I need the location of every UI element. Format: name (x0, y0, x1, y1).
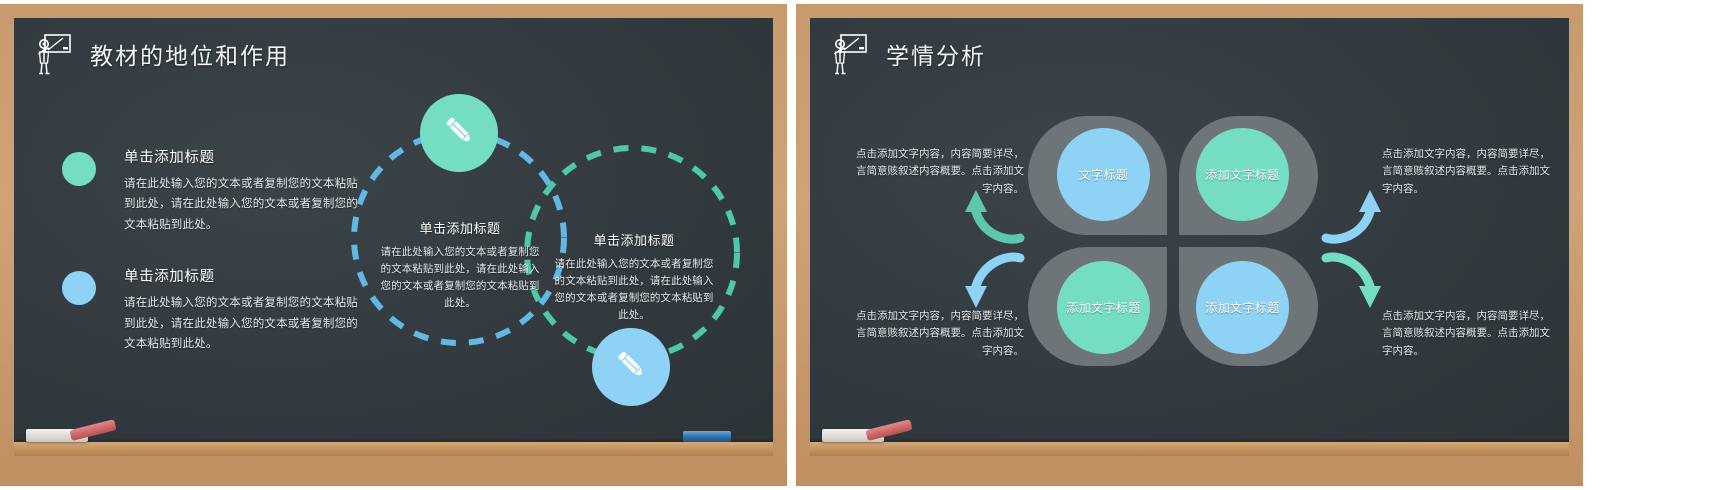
slide-left-title: 教材的地位和作用 (90, 37, 290, 71)
petal-top-right[interactable]: 添加文字标题 (1179, 116, 1318, 235)
bullet-title: 单击添加标题 (124, 265, 362, 286)
teacher-blackboard-icon (32, 32, 72, 76)
pencil-icon (439, 111, 479, 156)
slide-divider (787, 0, 796, 490)
bullet-text: 请在此处输入您的文本或者复制您的文本粘贴到此处，请在此处输入您的文本或者复制您的… (124, 293, 362, 354)
petal-label-top-left: 文字标题 (1057, 128, 1150, 221)
petal-label-bottom-right: 添加文字标题 (1196, 261, 1289, 354)
slide-right-header: 学情分析 (828, 32, 986, 76)
circle-title: 单击添加标题 (380, 218, 540, 237)
dashed-circle-group: 单击添加标题 请在此处输入您的文本或者复制您的文本粘贴到此处，请在此处输入您的文… (344, 78, 764, 418)
paragraph-top-right: 点击添加文字内容，内容简要详尽，言简意赅叙述内容概要。点击添加文字内容。 (1382, 146, 1554, 198)
chalk-ledge (810, 442, 1569, 456)
pencil-bubble-blue[interactable] (592, 328, 670, 406)
petal-bottom-left[interactable]: 添加文字标题 (1028, 247, 1167, 366)
arrow-top-right-icon (1318, 186, 1388, 246)
circle-text-right: 单击添加标题 请在此处输入您的文本或者复制您的文本粘贴到此处，请在此处输入您的文… (554, 230, 714, 324)
bullet-item[interactable]: 单击添加标题 请在此处输入您的文本或者复制您的文本粘贴到此处，请在此处输入您的文… (62, 146, 362, 235)
bullet-item[interactable]: 单击添加标题 请在此处输入您的文本或者复制您的文本粘贴到此处，请在此处输入您的文… (62, 265, 362, 354)
chalk-ledge (14, 442, 773, 456)
circle-title: 单击添加标题 (554, 230, 714, 249)
slide-pair-canvas: 教材的地位和作用 单击添加标题 请在此处输入您的文本或者复制您的文本粘贴到此处，… (0, 0, 1720, 490)
bullet-dot-green (62, 152, 96, 186)
circle-text-left: 单击添加标题 请在此处输入您的文本或者复制您的文本粘贴到此处，请在此处输入您的文… (380, 218, 540, 312)
paragraph-top-left: 点击添加文字内容，内容简要详尽，言简意赅叙述内容概要。点击添加文字内容。 (852, 146, 1024, 198)
petal-label-bottom-left: 添加文字标题 (1057, 261, 1150, 354)
pencil-bubble-green[interactable] (420, 94, 498, 172)
bullet-text: 请在此处输入您的文本或者复制您的文本粘贴到此处，请在此处输入您的文本或者复制您的… (124, 174, 362, 235)
arrow-bottom-right-icon (1318, 250, 1388, 312)
paragraph-bottom-right: 点击添加文字内容，内容简要详尽，言简意赅叙述内容概要。点击添加文字内容。 (1382, 308, 1554, 360)
petal-top-left[interactable]: 文字标题 (1028, 116, 1167, 235)
paragraph-bottom-left: 点击添加文字内容，内容简要详尽，言简意赅叙述内容概要。点击添加文字内容。 (852, 308, 1024, 360)
pencil-icon (611, 345, 651, 390)
slide-left: 教材的地位和作用 单击添加标题 请在此处输入您的文本或者复制您的文本粘贴到此处，… (0, 4, 787, 486)
chalk-blue[interactable] (683, 431, 731, 442)
quadrant-flower-diagram: 文字标题 添加文字标题 添加文字标题 添加文字标题 (1028, 116, 1318, 366)
slide-right-title: 学情分析 (886, 37, 986, 71)
slide-left-header: 教材的地位和作用 (32, 32, 290, 76)
slide-right: 学情分析 文字标题 添加文字标题 添加文字标题 添加文字标题 (796, 4, 1583, 486)
bullet-title: 单击添加标题 (124, 146, 362, 167)
chalkboard-right: 学情分析 文字标题 添加文字标题 添加文字标题 添加文字标题 (810, 18, 1569, 456)
arrow-bottom-left-icon (958, 250, 1028, 312)
petal-bottom-right[interactable]: 添加文字标题 (1179, 247, 1318, 366)
circle-body: 请在此处输入您的文本或者复制您的文本粘贴到此处，请在此处输入您的文本或者复制您的… (554, 256, 714, 324)
chalkboard-left: 教材的地位和作用 单击添加标题 请在此处输入您的文本或者复制您的文本粘贴到此处，… (14, 18, 773, 456)
petal-label-top-right: 添加文字标题 (1196, 128, 1289, 221)
bullet-list-left: 单击添加标题 请在此处输入您的文本或者复制您的文本粘贴到此处，请在此处输入您的文… (62, 146, 362, 385)
teacher-blackboard-icon (828, 32, 868, 76)
circle-body: 请在此处输入您的文本或者复制您的文本粘贴到此处，请在此处输入您的文本或者复制您的… (380, 244, 540, 312)
